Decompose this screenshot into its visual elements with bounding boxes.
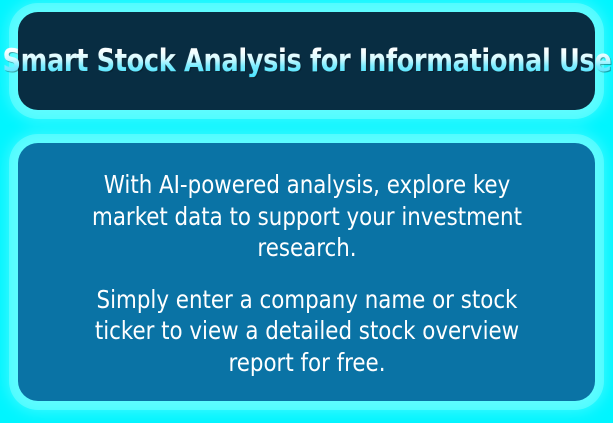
title-card: Smart Stock Analysis for Informational U… <box>18 12 595 110</box>
promo-banner: Smart Stock Analysis for Informational U… <box>0 0 613 423</box>
description-paragraph-1: With AI-powered analysis, explore key ma… <box>83 169 530 264</box>
description-card: With AI-powered analysis, explore key ma… <box>18 143 595 401</box>
description-paragraph-2: Simply enter a company name or stock tic… <box>83 284 530 379</box>
page-title: Smart Stock Analysis for Informational U… <box>2 45 611 78</box>
